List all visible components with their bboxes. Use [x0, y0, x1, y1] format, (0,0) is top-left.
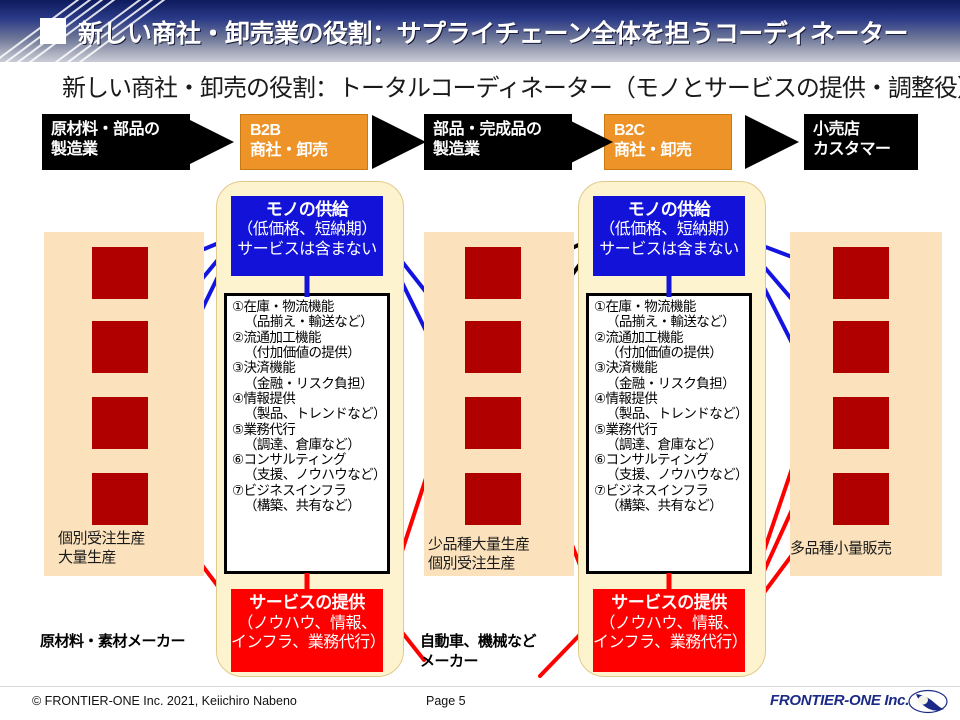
function-item-title: ⑤業務代行 — [232, 422, 383, 437]
b2b-service-box[interactable]: サービスの提供 （ノウハウ、情報、 インフラ、業務代行） — [231, 589, 383, 672]
page-title: 新しい商社・卸売業の役割：サプライチェーン全体を担うコーディネーター — [78, 14, 908, 50]
function-item-title: ⑤業務代行 — [594, 422, 745, 437]
middle-column-square[interactable] — [465, 397, 521, 449]
caption-line1: 少品種大量生産 — [428, 536, 530, 555]
function-item-detail: （品揃え・輸送など） — [232, 314, 383, 329]
right-column-caption: 多品種小量販売 — [790, 540, 892, 559]
flow-box-line2: 製造業 — [51, 140, 182, 160]
service-sub2: インフラ、業務代行） — [231, 633, 383, 653]
footer-copyright: © FRONTIER-ONE Inc. 2021, Keiichiro Nabe… — [32, 694, 297, 708]
flow-box-line1: 小売店 — [813, 120, 910, 140]
function-item-title: ①在庫・物流機能 — [594, 299, 745, 314]
right-column-square[interactable] — [833, 397, 889, 449]
frontier-one-eye-logo — [908, 688, 948, 715]
slide-header-band: 新しい商社・卸売業の役割：サプライチェーン全体を担うコーディネーター — [0, 0, 960, 62]
left-column-square[interactable] — [92, 321, 148, 373]
service-sub1: （ノウハウ、情報、 — [231, 614, 383, 634]
b2b-function-list[interactable]: ①在庫・物流機能 （品揃え・輸送など） ②流通加工機能 （付加価値の提供） ③決… — [224, 293, 390, 574]
maker-label-left: 原材料・素材メーカー — [40, 632, 185, 652]
middle-column-square[interactable] — [465, 321, 521, 373]
function-item-title: ②流通加工機能 — [594, 330, 745, 345]
function-item-title: ④情報提供 — [594, 391, 745, 406]
function-item-title: ③決済機能 — [594, 360, 745, 375]
function-item-title: ⑥コンサルティング — [232, 452, 383, 467]
supply-sub1: （低価格、短納期） — [593, 220, 745, 239]
b2c-function-list[interactable]: ①在庫・物流機能 （品揃え・輸送など） ②流通加工機能 （付加価値の提供） ③決… — [586, 293, 752, 574]
function-item-detail: （付加価値の提供） — [594, 345, 745, 360]
function-item-title: ⑦ビジネスインフラ — [232, 483, 383, 498]
supply-sub1: （低価格、短納期） — [231, 220, 383, 239]
flow-box-line1: 部品・完成品の — [433, 120, 564, 140]
function-item-detail: （品揃え・輸送など） — [594, 314, 745, 329]
flow-box-mfg-raw[interactable]: 原材料・部品の 製造業 — [42, 114, 190, 170]
function-item-detail: （支援、ノウハウなど） — [232, 467, 383, 482]
footer-page-number: Page 5 — [426, 694, 466, 708]
subtitle: 新しい商社・卸売の役割：トータルコーディネーター（モノとサービスの提供・調整役） — [62, 68, 960, 103]
service-sub1: （ノウハウ、情報、 — [593, 614, 745, 634]
function-item-title: ②流通加工機能 — [232, 330, 383, 345]
function-item-detail: （金融・リスク負担） — [232, 376, 383, 391]
function-item-title: ①在庫・物流機能 — [232, 299, 383, 314]
flow-box-line2: 商社・卸売 — [614, 141, 723, 161]
flow-box-b2c[interactable]: B2C 商社・卸売 — [604, 114, 732, 170]
function-item-detail: （付加価値の提供） — [232, 345, 383, 360]
b2c-service-connector — [662, 573, 676, 593]
flow-box-b2b[interactable]: B2B 商社・卸売 — [240, 114, 368, 170]
left-column-square[interactable] — [92, 247, 148, 299]
function-item-title: ⑦ビジネスインフラ — [594, 483, 745, 498]
b2c-supply-connector — [662, 275, 676, 297]
maker-line2: メーカー — [420, 652, 536, 672]
flow-box-line2: 商社・卸売 — [250, 141, 359, 161]
function-item-detail: （製品、トレンドなど） — [594, 406, 745, 421]
right-column-square[interactable] — [833, 247, 889, 299]
caption-line1: 個別受注生産 — [58, 530, 145, 549]
b2b-supply-box[interactable]: モノの供給 （低価格、短納期） サービスは含まない — [231, 196, 383, 276]
caption-line1: 多品種小量販売 — [790, 540, 892, 559]
footer-logo-text: FRONTIER-ONE Inc. — [770, 692, 909, 709]
slide-canvas: 新しい商社・卸売業の役割：サプライチェーン全体を担うコーディネーター 新しい商社… — [0, 0, 960, 720]
function-item-detail: （構築、共有など） — [594, 498, 745, 513]
function-item-detail: （調達、倉庫など） — [594, 437, 745, 452]
flow-box-line1: B2C — [614, 121, 723, 141]
maker-line1: 原材料・素材メーカー — [40, 632, 185, 652]
supply-title: モノの供給 — [231, 200, 383, 220]
flow-box-retail[interactable]: 小売店 カスタマー — [804, 114, 918, 170]
caption-line2: 大量生産 — [58, 549, 145, 568]
service-title: サービスの提供 — [593, 593, 745, 614]
function-item-title: ⑥コンサルティング — [594, 452, 745, 467]
flow-box-line1: 原材料・部品の — [51, 120, 182, 140]
middle-column-square[interactable] — [465, 247, 521, 299]
function-item-title: ④情報提供 — [232, 391, 383, 406]
function-item-detail: （調達、倉庫など） — [232, 437, 383, 452]
supply-title: モノの供給 — [593, 200, 745, 220]
b2c-service-box[interactable]: サービスの提供 （ノウハウ、情報、 インフラ、業務代行） — [593, 589, 745, 672]
middle-column-caption: 少品種大量生産 個別受注生産 — [428, 536, 530, 574]
flow-box-line2: カスタマー — [813, 140, 910, 160]
b2b-supply-connector — [300, 275, 314, 297]
left-column-caption: 個別受注生産 大量生産 — [58, 530, 145, 568]
flow-box-line1: B2B — [250, 121, 359, 141]
middle-column-square[interactable] — [465, 473, 521, 525]
caption-line2: 個別受注生産 — [428, 555, 530, 574]
function-item-detail: （製品、トレンドなど） — [232, 406, 383, 421]
function-item-detail: （構築、共有など） — [232, 498, 383, 513]
supply-sub2: サービスは含まない — [231, 240, 383, 259]
left-column-square[interactable] — [92, 473, 148, 525]
function-item-detail: （支援、ノウハウなど） — [594, 467, 745, 482]
service-sub2: インフラ、業務代行） — [593, 633, 745, 653]
service-title: サービスの提供 — [231, 593, 383, 614]
function-item-title: ③決済機能 — [232, 360, 383, 375]
footer-divider — [0, 686, 960, 687]
b2b-service-connector — [300, 573, 314, 593]
square-bullet-icon — [40, 18, 66, 44]
flow-box-mfg-parts[interactable]: 部品・完成品の 製造業 — [424, 114, 572, 170]
b2c-supply-box[interactable]: モノの供給 （低価格、短納期） サービスは含まない — [593, 196, 745, 276]
right-column-square[interactable] — [833, 473, 889, 525]
left-column-square[interactable] — [92, 397, 148, 449]
function-item-detail: （金融・リスク負担） — [594, 376, 745, 391]
maker-label-middle: 自動車、機械など メーカー — [420, 632, 536, 671]
maker-line1: 自動車、機械など — [420, 632, 536, 652]
supply-sub2: サービスは含まない — [593, 240, 745, 259]
right-column-square[interactable] — [833, 321, 889, 373]
flow-box-line2: 製造業 — [433, 140, 564, 160]
